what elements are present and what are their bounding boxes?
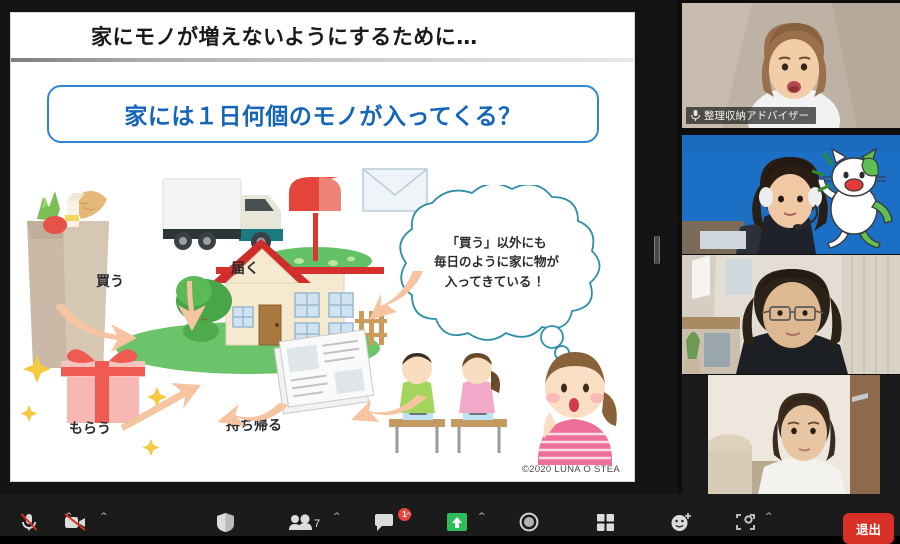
svg-text:7: 7 xyxy=(314,518,320,530)
zoom-meeting-window: 家にモノが増えないようにするために… 家には１日何個のモノが入ってくる？ xyxy=(0,0,900,536)
newspaper-icon xyxy=(273,330,374,414)
slide-title: 家にモノが増えないようにするために… xyxy=(11,13,634,59)
slide-question-box: 家には１日何個のモノが入ってくる？ xyxy=(47,85,599,143)
thinking-woman-icon xyxy=(520,330,630,465)
shield-icon xyxy=(216,511,235,533)
video-filmstrip: 整理収納アドバイザー xyxy=(682,0,900,500)
participants-options-caret[interactable]: ^ xyxy=(333,512,341,522)
video-options-caret[interactable]: ^ xyxy=(100,512,108,522)
presentation-slide: 家にモノが増えないようにするために… 家には１日何個のモノが入ってくる？ xyxy=(11,13,634,481)
video-button[interactable] xyxy=(52,511,98,534)
video-tile-0-namebar: 整理収納アドバイザー xyxy=(686,107,816,124)
leave-meeting-button[interactable]: 退出 xyxy=(843,513,894,544)
video-tile-0-name: 整理収納アドバイザー xyxy=(704,108,809,123)
screenshot-options-caret[interactable]: ^ xyxy=(765,512,773,522)
video-tile-2[interactable] xyxy=(682,255,900,374)
record-icon xyxy=(519,511,539,533)
caption-bring-home: 持ち帰る xyxy=(226,415,282,435)
video-off-icon xyxy=(63,511,87,533)
breakout-rooms-button[interactable] xyxy=(582,511,628,534)
share-screen-button[interactable] xyxy=(434,511,480,534)
chat-options-caret[interactable]: ^ xyxy=(405,512,413,522)
microphone-icon xyxy=(691,110,700,121)
shared-screen-region[interactable]: 家にモノが増えないようにするために… 家には１日何個のモノが入ってくる？ xyxy=(0,0,678,494)
title-divider xyxy=(11,58,634,62)
record-button[interactable] xyxy=(506,511,552,534)
video-tile-1[interactable] xyxy=(682,135,900,254)
security-button[interactable] xyxy=(202,511,248,534)
mute-button[interactable] xyxy=(6,511,52,534)
share-options-caret[interactable]: ^ xyxy=(478,512,486,522)
participants-icon: 7 xyxy=(288,511,324,533)
bubble-text: 「買う」以外にも 毎日のように家に物が 入ってきている ！ xyxy=(394,233,599,291)
slide-copyright: ©2020 LUNA O STEA xyxy=(522,464,620,475)
chat-icon: 1 xyxy=(374,511,396,533)
meeting-toolbar: ^ ^ xyxy=(0,494,900,536)
video-tile-0[interactable]: 整理収納アドバイザー xyxy=(682,3,900,128)
screenshot-button[interactable] xyxy=(722,511,768,534)
reactions-icon xyxy=(670,511,692,533)
chat-button[interactable]: 1 xyxy=(362,511,408,534)
participants-button[interactable]: 7 xyxy=(278,511,334,534)
reactions-button[interactable] xyxy=(658,511,704,534)
caption-buy: 買う xyxy=(96,271,124,291)
screenshot-icon xyxy=(735,511,756,533)
caption-deliver: 届く xyxy=(231,258,259,278)
caption-receive: もらう xyxy=(69,418,111,438)
share-screen-icon xyxy=(446,511,468,533)
share-resize-handle[interactable] xyxy=(654,236,660,264)
breakout-rooms-icon xyxy=(596,511,615,533)
delivery-truck-icon xyxy=(163,179,283,252)
microphone-muted-icon xyxy=(19,511,39,533)
video-tile-3[interactable] xyxy=(682,375,900,494)
